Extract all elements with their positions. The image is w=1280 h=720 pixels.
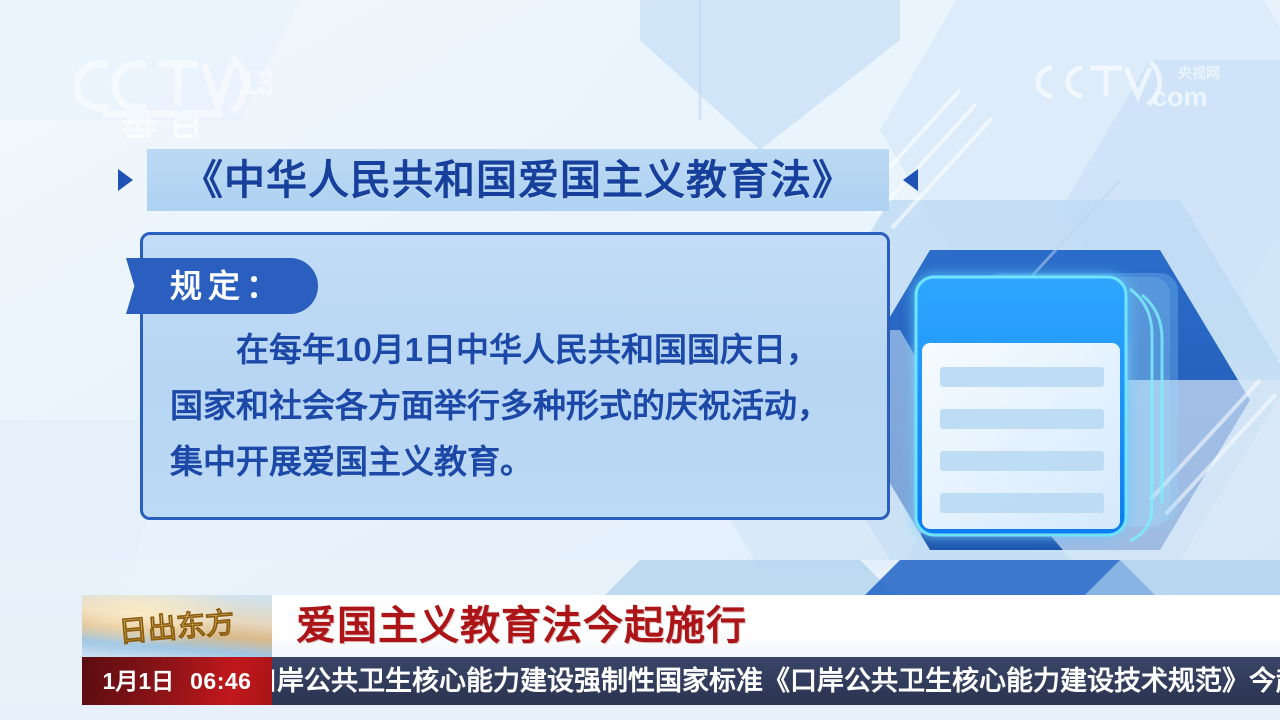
lower-third-bar: 日出东方 日出东方 爱国主义教育法今起施行 <box>82 595 1280 657</box>
news-ticker: 1月1日 06:46 口岸公共卫生核心能力建设强制性国家标准《口岸公共卫生核心能… <box>82 657 1280 705</box>
pill-ribbon-tail <box>126 258 148 314</box>
cctv-com-watermark-svg: com 央视网 <box>1030 56 1235 114</box>
headline-text: 爱国主义教育法今起施行 <box>296 606 747 646</box>
ticker-headline-text: 口岸公共卫生核心能力建设强制性国家标准《口岸公共卫生核心能力建设技术规范》今起施 <box>272 668 1280 695</box>
title-plate: 《中华人民共和国爱国主义教育法》 <box>147 149 889 211</box>
headline-bar: 爱国主义教育法今起施行 <box>272 595 1280 657</box>
ticker-date: 1月1日 <box>103 670 175 693</box>
svg-text:央视网: 央视网 <box>1178 65 1220 82</box>
regulation-line: 在每年10月1日中华人民共和国国庆日， <box>170 322 880 378</box>
cctv13-channel-logo: 13 <box>72 44 272 140</box>
triangle-right-icon <box>118 169 133 191</box>
cctv13-logo-svg: 13 <box>72 44 272 140</box>
document-card-icon <box>860 215 1260 615</box>
ticker-datetime: 1月1日 06:46 <box>82 657 272 705</box>
title-banner: 《中华人民共和国爱国主义教育法》 <box>118 142 918 218</box>
program-logo-text: 日出东方 <box>117 605 236 649</box>
program-logo: 日出东方 日出东方 <box>82 595 272 657</box>
bottom-filler <box>0 705 1280 720</box>
triangle-left-icon <box>903 169 918 191</box>
cctv-com-watermark: com 央视网 <box>1030 56 1235 114</box>
ticker-clock: 06:46 <box>190 670 251 693</box>
lower-left-filler <box>0 595 82 720</box>
pill-body: 规定： <box>148 258 318 314</box>
regulation-label-text: 规定： <box>170 270 284 302</box>
regulation-text-block: 在每年10月1日中华人民共和国国庆日， 国家和社会各方面举行多种形式的庆祝活动，… <box>170 322 880 490</box>
svg-text:com: com <box>1152 82 1208 112</box>
ticker-scroll-area: 口岸公共卫生核心能力建设强制性国家标准《口岸公共卫生核心能力建设技术规范》今起施 <box>272 657 1280 705</box>
svg-text:13: 13 <box>238 64 272 102</box>
title-text: 《中华人民共和国爱国主义教育法》 <box>182 160 854 201</box>
program-logo-svg: 日出东方 <box>82 595 272 657</box>
regulation-line: 国家和社会各方面举行多种形式的庆祝活动， <box>170 378 880 434</box>
broadcast-screen: 13 com 央视网 <box>0 0 1280 720</box>
regulation-label-pill: 规定： <box>126 258 318 314</box>
regulation-line: 集中开展爱国主义教育。 <box>170 434 880 490</box>
document-card-icon-svg <box>860 215 1260 615</box>
